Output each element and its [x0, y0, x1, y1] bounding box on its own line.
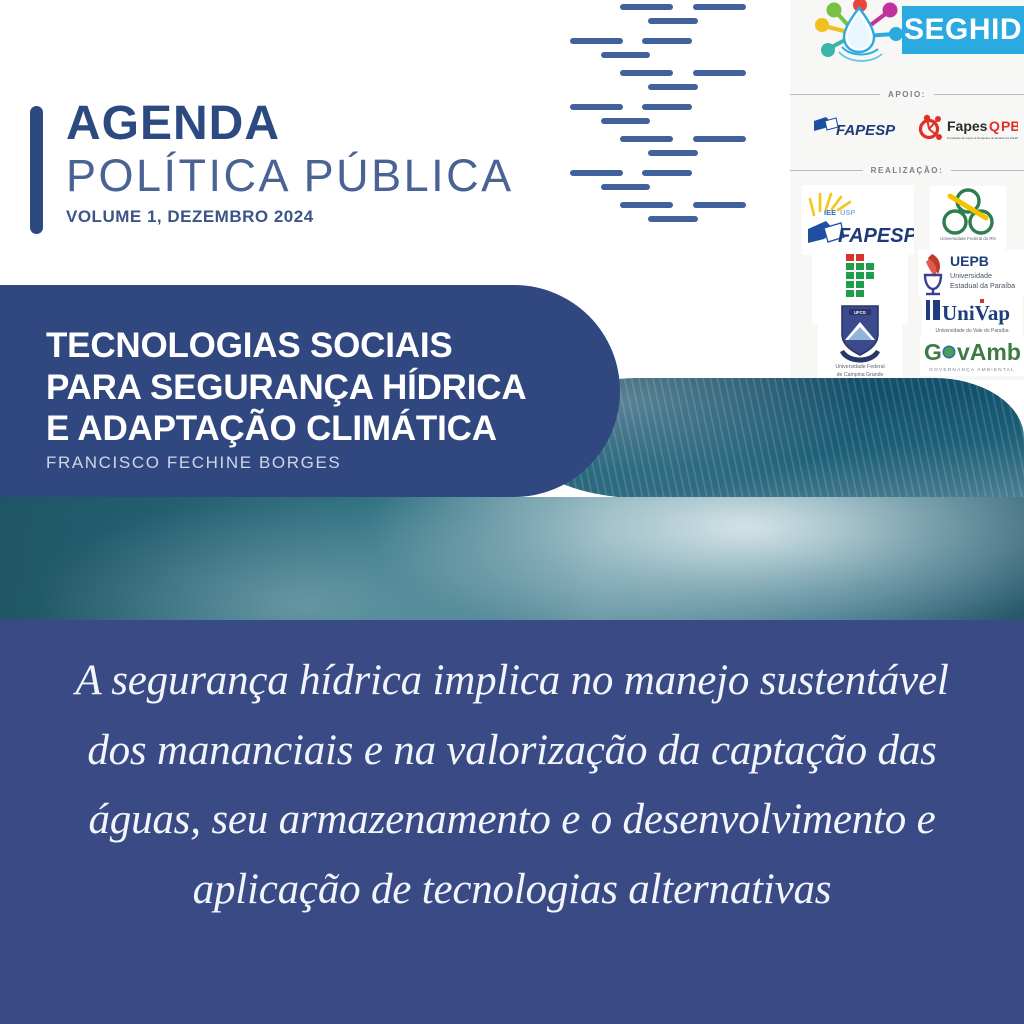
- dashed-lines-decoration: [548, 0, 798, 228]
- title-line-2: PARA SEGURANÇA HÍDRICA: [46, 367, 606, 409]
- title-text-group: TECNOLOGIAS SOCIAIS PARA SEGURANÇA HÍDRI…: [46, 325, 606, 473]
- title-banner: TECNOLOGIAS SOCIAIS PARA SEGURANÇA HÍDRI…: [0, 285, 620, 497]
- agenda-subtitle: POLÍTICA PÚBLICA: [66, 151, 514, 201]
- svg-text:Universidade do Vale do Paraíb: Universidade do Vale do Paraíba: [935, 328, 1008, 334]
- apoio-label-text: APOIO:: [888, 90, 926, 99]
- svg-text:Universidade Federal: Universidade Federal: [835, 364, 884, 370]
- agenda-text-group: AGENDA POLÍTICA PÚBLICA VOLUME 1, DEZEMB…: [66, 100, 514, 227]
- seghid-logo: SEGHID: [800, 0, 1024, 62]
- logo-uepb: UEPB Universidade Estadual da Paraíba: [918, 250, 1024, 296]
- seghid-wordmark: SEGHID: [904, 12, 1016, 48]
- agenda-accent-bar: [30, 106, 43, 234]
- svg-text:Fundação de Apoio à Pesquisa d: Fundação de Apoio à Pesquisa do Estado d…: [947, 136, 1018, 140]
- water-surface-photo: [0, 497, 1024, 624]
- svg-text:Estadual da Paraíba: Estadual da Paraíba: [950, 281, 1015, 290]
- logo-univap: UniVap Universidade do Vale do Paraíba: [922, 296, 1022, 336]
- poster-root: AGENDA POLÍTICA PÚBLICA VOLUME 1, DEZEMB…: [0, 0, 1024, 1024]
- water-drop-network-icon: [812, 0, 908, 62]
- realizacao-section-label: REALIZAÇÃO:: [790, 166, 1024, 175]
- quote-panel: A segurança hídrica implica no manejo su…: [0, 620, 1024, 1024]
- logo-fapesq-pb: Fapes Q PB Fundação de Apoio à Pesquisa …: [918, 113, 1018, 143]
- logo-ufcg: UFCG Universidade Federal de Campina Gra…: [818, 300, 902, 378]
- svg-text:vAmb: vAmb: [957, 339, 1021, 365]
- logo-ufrn: Universidade Federal do RN: [930, 186, 1006, 250]
- divider-left: [790, 170, 863, 171]
- svg-text:PB: PB: [1001, 118, 1018, 134]
- svg-text:Fapes: Fapes: [947, 118, 988, 134]
- divider-left: [790, 94, 880, 95]
- divider-right: [934, 94, 1024, 95]
- logo-fapesp-apoio: FAPESP: [812, 115, 906, 141]
- svg-text:Q: Q: [989, 118, 1000, 134]
- svg-text:USP: USP: [840, 208, 855, 217]
- svg-text:GOVERNANÇA AMBIENTAL: GOVERNANÇA AMBIENTAL: [929, 367, 1015, 373]
- svg-text:G: G: [924, 339, 942, 365]
- title-line-1: TECNOLOGIAS SOCIAIS: [46, 325, 606, 367]
- quote-text: A segurança hídrica implica no manejo su…: [58, 646, 966, 925]
- svg-text:UFCG: UFCG: [854, 310, 866, 315]
- svg-text:UEPB: UEPB: [950, 253, 989, 269]
- divider-right: [951, 170, 1024, 171]
- svg-text:Universidade: Universidade: [950, 271, 992, 280]
- logo-govamb: G vAmb GOVERNANÇA AMBIENTAL: [920, 336, 1024, 376]
- logo-iee-usp-fapesp: IEE USP FAPESP: [802, 185, 914, 255]
- svg-text:IEE: IEE: [824, 208, 836, 217]
- agenda-volume-date: VOLUME 1, DEZEMBRO 2024: [66, 207, 514, 227]
- realizacao-label-text: REALIZAÇÃO:: [871, 166, 944, 175]
- svg-text:FAPESP: FAPESP: [838, 225, 914, 247]
- title-line-3: E ADAPTAÇÃO CLIMÁTICA: [46, 408, 606, 450]
- author-name: FRANCISCO FECHINE BORGES: [46, 453, 606, 473]
- apoio-section-label: APOIO:: [790, 90, 1024, 99]
- svg-text:Universidade Federal do RN: Universidade Federal do RN: [940, 236, 995, 241]
- svg-text:FAPESP: FAPESP: [836, 122, 896, 139]
- agenda-header: AGENDA POLÍTICA PÚBLICA VOLUME 1, DEZEMB…: [30, 100, 550, 250]
- svg-text:UniVap: UniVap: [942, 301, 1010, 325]
- agenda-title: AGENDA: [66, 100, 514, 149]
